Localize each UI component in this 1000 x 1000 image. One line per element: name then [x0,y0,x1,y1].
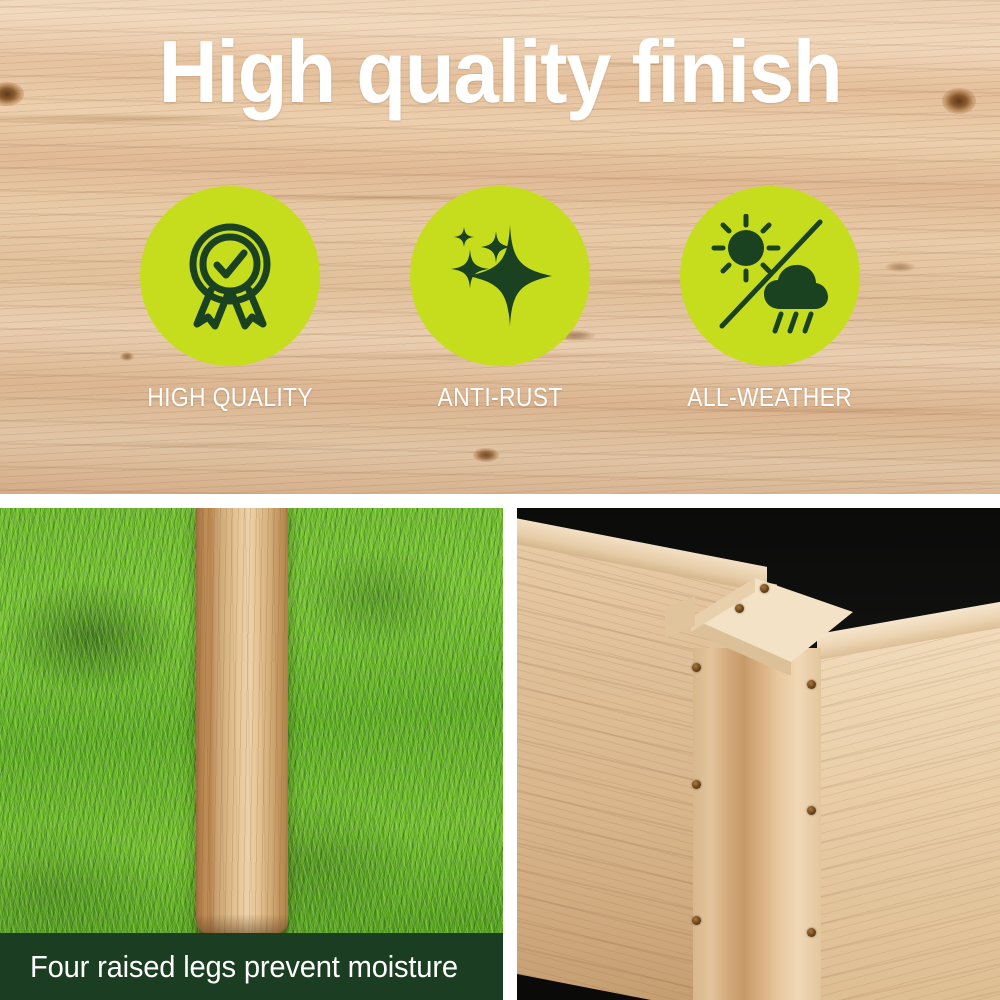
feature-label-all-weather: ALL-WEATHER [688,382,853,413]
badge-circle-anti-rust [410,186,590,366]
screw-icon [807,680,816,689]
feature-badge-row: HIGH QUALITY [0,186,1000,406]
wooden-leg [196,508,288,934]
screw-icon [692,780,701,789]
badge-circle-all-weather [680,186,860,366]
rounded-corner-cap [665,566,855,676]
panel-raised-legs: Four raised legs prevent moisture [0,508,503,1000]
screw-icon [807,806,816,815]
sun-rain-cloud-icon [708,214,832,338]
screw-icon [735,604,744,613]
vertical-divider [503,508,517,1000]
sun-icon [714,216,778,280]
rain-drops-icon [775,314,811,331]
caption-bar-left: Four raised legs prevent moisture [0,933,503,1000]
sparkle-star-icon [444,219,556,333]
top-wood-panel: High quality finish [0,0,1000,494]
panel-rounded-corners: Safe rounded corners [517,508,1000,1000]
badge-circle-high-quality [140,186,320,366]
feature-anti-rust: ANTI-RUST [369,186,631,413]
feature-all-weather: ALL-WEATHER [639,186,901,413]
screw-icon [760,584,769,593]
award-ribbon-icon [175,220,285,332]
wood-knot-icon [473,448,499,462]
screw-icon [692,916,701,925]
feature-high-quality: HIGH QUALITY [99,186,361,413]
page-title: High quality finish [35,22,965,122]
planter-corner-photo [517,508,1000,1000]
horizontal-divider [0,494,1000,508]
screw-icon [692,663,701,672]
caption-text-left: Four raised legs prevent moisture [30,949,458,985]
wood-knot-icon [0,82,24,106]
screw-icon [807,928,816,937]
planter-corner-post [693,648,821,1000]
product-feature-graphic: High quality finish [0,0,1000,1000]
leg-wood-grain [196,508,288,934]
feature-label-high-quality: HIGH QUALITY [147,382,313,413]
feature-label-anti-rust: ANTI-RUST [437,382,562,413]
